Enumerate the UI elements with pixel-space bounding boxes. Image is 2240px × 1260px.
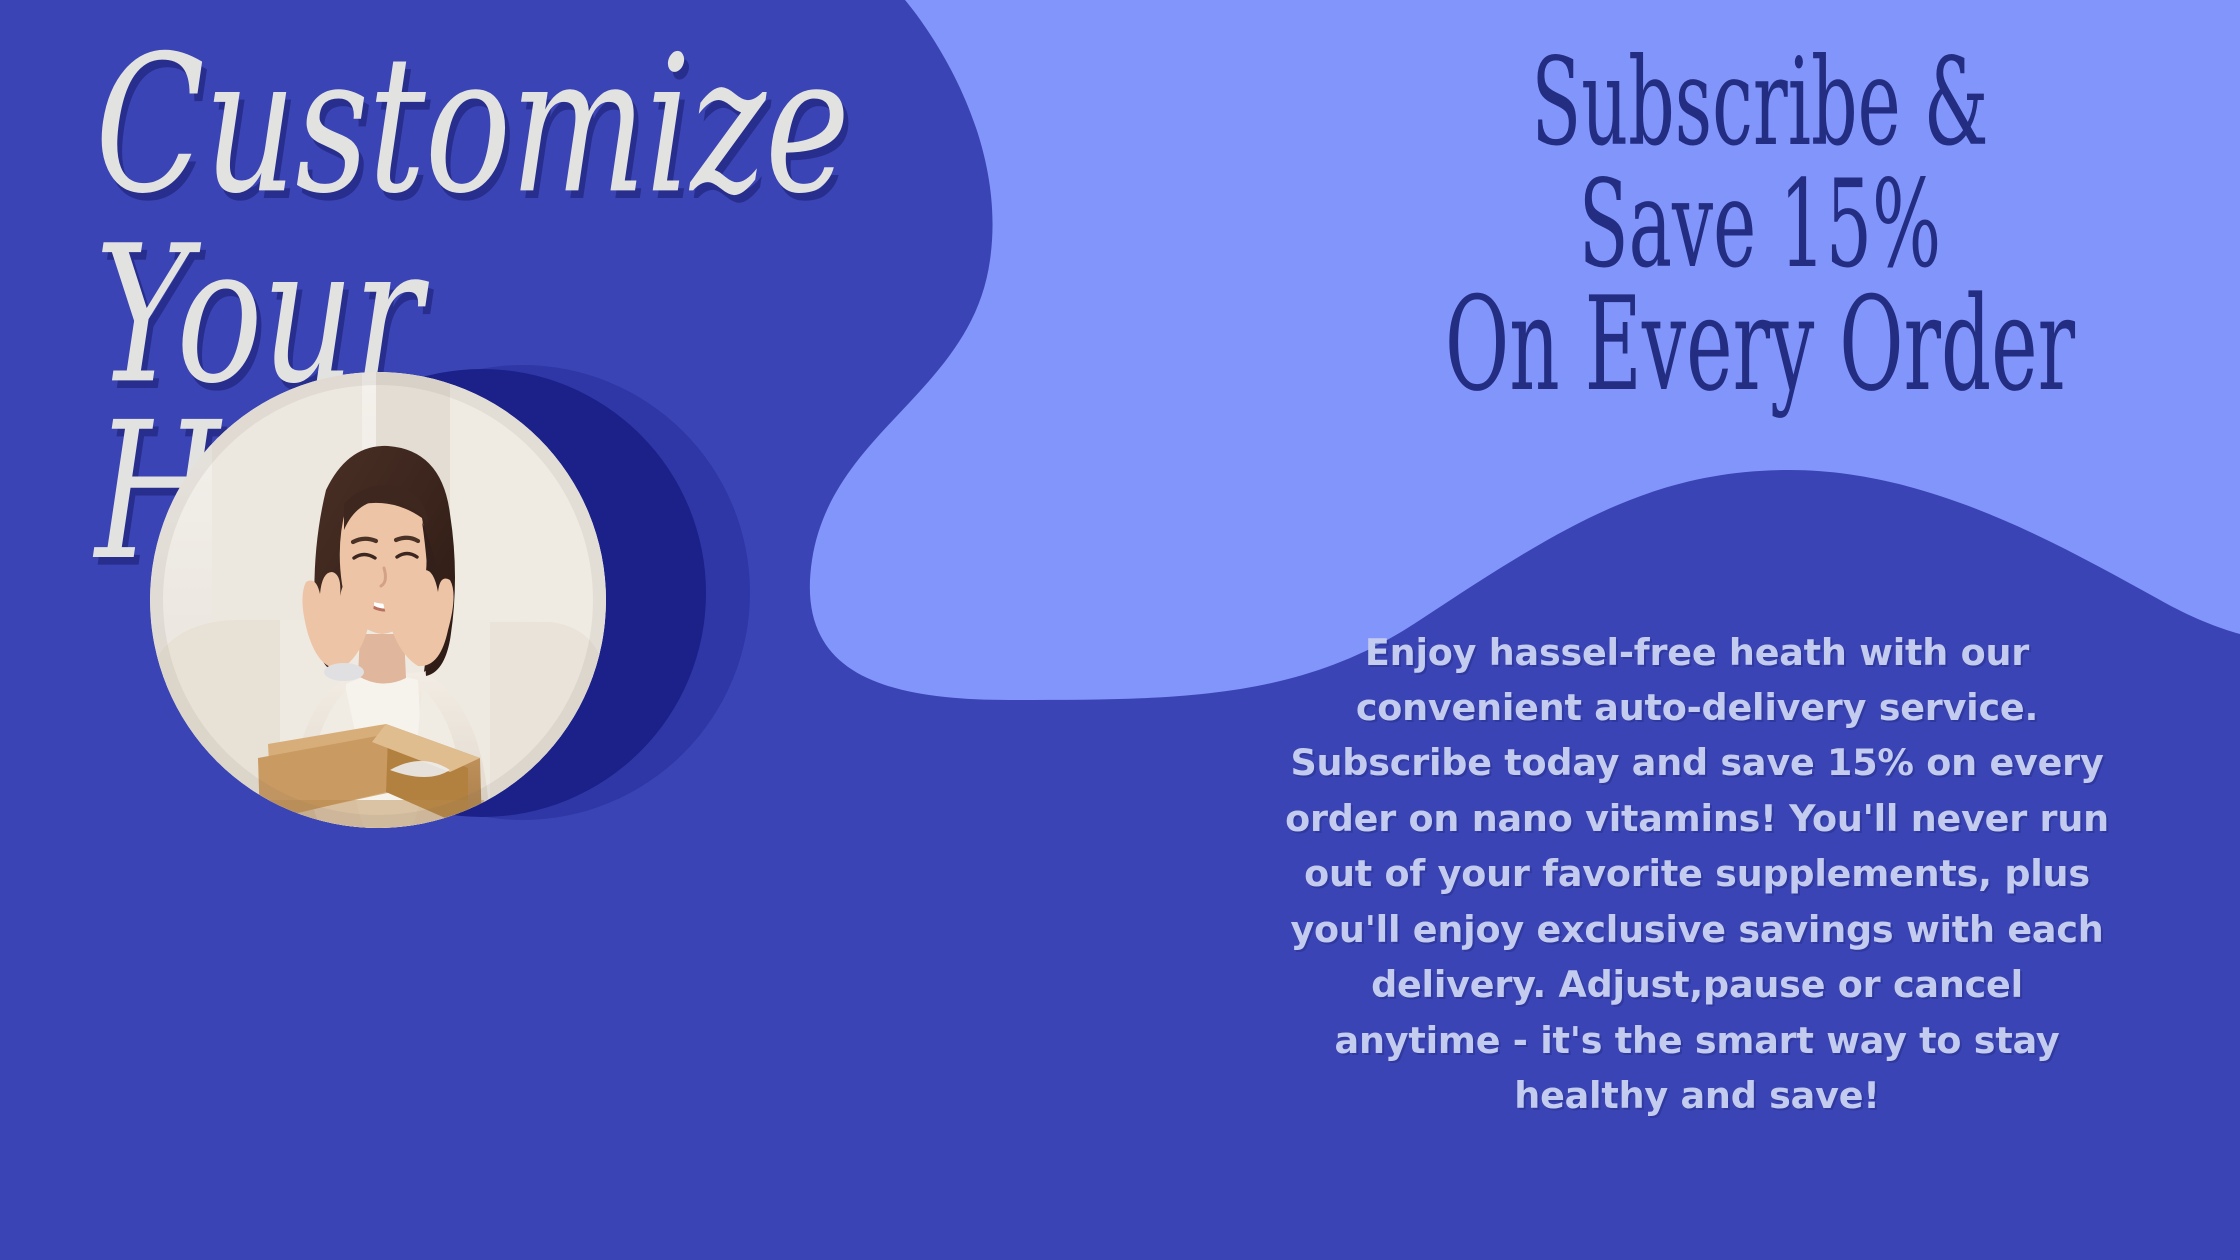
promo-heading-line-1: Subscribe & — [1424, 42, 2096, 163]
photo-medallion — [150, 365, 710, 825]
promotional-banner: Customize Your Heath! — [0, 0, 2240, 1260]
customer-photo-illustration — [150, 372, 606, 828]
headline-line-1: Customize — [95, 38, 832, 214]
promo-heading-line-3: On Every Order — [1424, 280, 2096, 410]
promo-heading: Subscribe & Save 15% On Every Order — [1280, 42, 2240, 392]
body-paragraph: Enjoy hassel-free heath with our conveni… — [1282, 625, 2112, 1124]
avatar — [150, 372, 606, 828]
promo-heading-line-2: Save 15% — [1424, 164, 2096, 285]
